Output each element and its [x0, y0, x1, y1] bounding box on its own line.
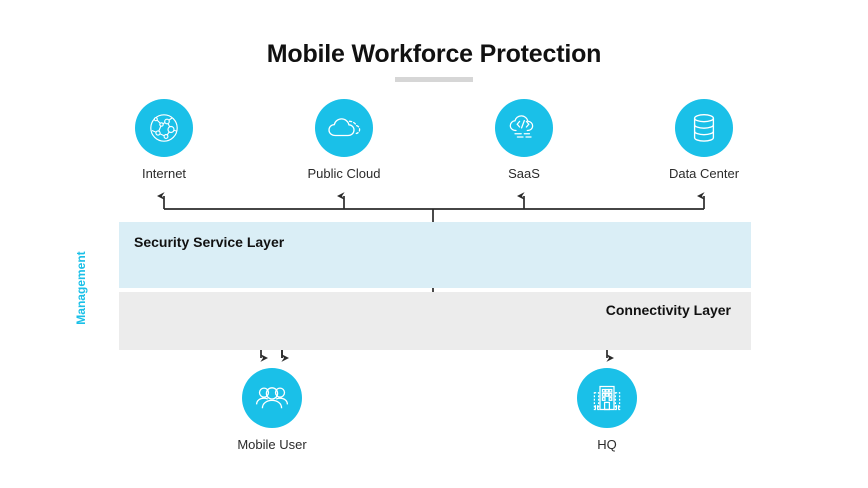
- office-building-icon: [589, 382, 625, 414]
- page-title: Mobile Workforce Protection: [0, 40, 868, 69]
- hq-icon-circle: [577, 368, 637, 428]
- node-saas-label: SaaS: [464, 166, 584, 181]
- saas-icon-circle: [495, 99, 553, 157]
- node-data-center: Data Center: [644, 99, 764, 181]
- cloud-icon: [326, 113, 362, 143]
- node-internet: Internet: [104, 99, 224, 181]
- management-label: Management: [74, 228, 90, 348]
- security-service-layer-band: Security Service Layer: [119, 222, 751, 288]
- node-hq-label: HQ: [547, 437, 667, 452]
- internet-icon-circle: [135, 99, 193, 157]
- connectivity-layer-label: Connectivity Layer: [606, 302, 731, 318]
- node-public-cloud-label: Public Cloud: [284, 166, 404, 181]
- users-group-icon: [254, 384, 290, 412]
- node-internet-label: Internet: [104, 166, 224, 181]
- security-service-layer-label: Security Service Layer: [134, 234, 284, 250]
- node-mobile-user-label: Mobile User: [212, 437, 332, 452]
- connectivity-layer-band: Connectivity Layer: [119, 292, 751, 350]
- public-cloud-icon-circle: [315, 99, 373, 157]
- data-center-icon-circle: [675, 99, 733, 157]
- network-globe-icon: [147, 111, 181, 145]
- diagram-canvas: Mobile Workforce Protection: [0, 0, 868, 488]
- cloud-code-icon: [506, 112, 542, 144]
- node-mobile-user: Mobile User: [212, 368, 332, 452]
- mobile-user-icon-circle: [242, 368, 302, 428]
- title-underline-rule: [395, 77, 473, 82]
- node-public-cloud: Public Cloud: [284, 99, 404, 181]
- node-saas: SaaS: [464, 99, 584, 181]
- database-icon: [690, 111, 718, 145]
- node-data-center-label: Data Center: [644, 166, 764, 181]
- node-hq: HQ: [547, 368, 667, 452]
